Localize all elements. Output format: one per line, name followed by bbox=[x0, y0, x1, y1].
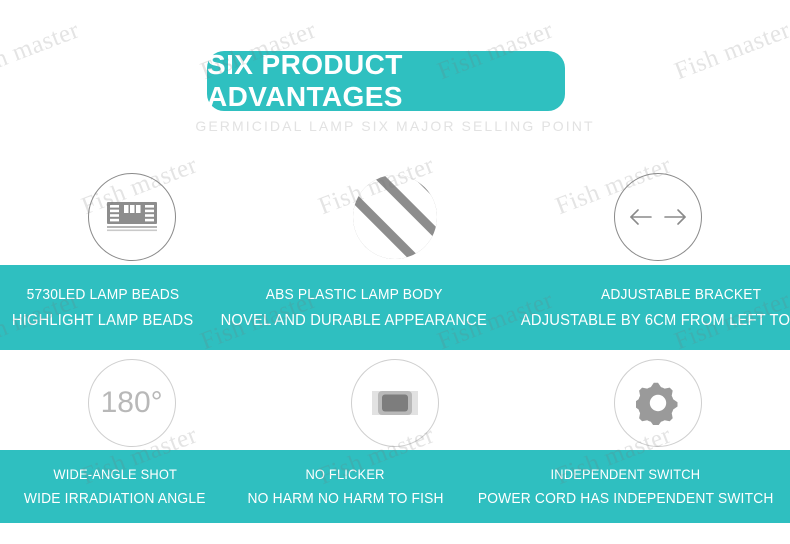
feature-text-6: INDEPENDENT SWITCH POWER CORD HAS INDEPE… bbox=[461, 450, 790, 523]
feature-text-1: 5730LED LAMP BEADS HIGHLIGHT LAMP BEADS bbox=[0, 265, 205, 350]
feature-icon-cell-2 bbox=[263, 168, 526, 266]
watermark-text: Fish master bbox=[0, 16, 83, 86]
page-subtitle: GERMICIDAL LAMP SIX MAJOR SELLING POINT bbox=[0, 118, 790, 134]
feature-title-2: ABS PLASTIC LAMP BODY bbox=[266, 286, 443, 303]
feature-desc-2: NOVEL AND DURABLE APPEARANCE bbox=[221, 312, 487, 330]
feature-text-3: ADJUSTABLE BRACKET ADJUSTABLE BY 6CM FRO… bbox=[503, 265, 790, 350]
icon-circle-1 bbox=[88, 173, 176, 261]
feature-desc-3: ADJUSTABLE BY 6CM FROM LEFT TO RIGHT bbox=[521, 312, 790, 330]
feature-icon-cell-1 bbox=[0, 168, 263, 266]
icon-circle-6 bbox=[614, 359, 702, 447]
feature-text-2: ABS PLASTIC LAMP BODY NOVEL AND DURABLE … bbox=[205, 265, 503, 350]
feature-desc-4: WIDE IRRADIATION ANGLE bbox=[24, 490, 206, 507]
feature-text-5: NO FLICKER NO HARM NO HARM TO FISH bbox=[230, 450, 460, 523]
gear-icon bbox=[636, 381, 680, 425]
title-pill: SIX PRODUCT ADVANTAGES bbox=[207, 51, 565, 111]
feature-band-top: 5730LED LAMP BEADS HIGHLIGHT LAMP BEADS … bbox=[0, 265, 790, 350]
icon-row-top bbox=[0, 168, 790, 266]
feature-title-6: INDEPENDENT SWITCH bbox=[550, 466, 700, 482]
feature-desc-5: NO HARM NO HARM TO FISH bbox=[247, 490, 443, 507]
feature-icon-cell-3 bbox=[527, 168, 790, 266]
icon-row-bottom: 180° bbox=[0, 355, 790, 450]
left-right-arrows-icon bbox=[626, 204, 690, 230]
feature-icon-cell-5 bbox=[263, 355, 526, 450]
diagonal-stripes-circle-icon bbox=[351, 173, 439, 261]
angle-180-icon: 180° bbox=[101, 388, 163, 418]
feature-title-5: NO FLICKER bbox=[306, 466, 385, 482]
feature-title-4: WIDE-ANGLE SHOT bbox=[53, 466, 177, 482]
watermark-text: Fish master bbox=[671, 16, 790, 86]
icon-circle-4: 180° bbox=[88, 359, 176, 447]
feature-text-4: WIDE-ANGLE SHOT WIDE IRRADIATION ANGLE bbox=[0, 450, 230, 523]
icon-circle-2 bbox=[351, 173, 439, 261]
smd-chip-icon bbox=[368, 386, 422, 420]
feature-icon-cell-6 bbox=[527, 355, 790, 450]
feature-icon-cell-4: 180° bbox=[0, 355, 263, 450]
feature-desc-1: HIGHLIGHT LAMP BEADS bbox=[12, 312, 193, 330]
icon-circle-3 bbox=[614, 173, 702, 261]
page-title: SIX PRODUCT ADVANTAGES bbox=[207, 49, 565, 113]
feature-band-bottom: WIDE-ANGLE SHOT WIDE IRRADIATION ANGLE N… bbox=[0, 450, 790, 523]
promo-banner: SIX PRODUCT ADVANTAGES GERMICIDAL LAMP S… bbox=[0, 0, 790, 544]
icon-circle-5 bbox=[351, 359, 439, 447]
feature-title-1: 5730LED LAMP BEADS bbox=[26, 286, 179, 303]
feature-desc-6: POWER CORD HAS INDEPENDENT SWITCH bbox=[478, 490, 774, 507]
led-lamp-bead-icon bbox=[104, 200, 160, 234]
feature-title-3: ADJUSTABLE BRACKET bbox=[601, 286, 761, 303]
